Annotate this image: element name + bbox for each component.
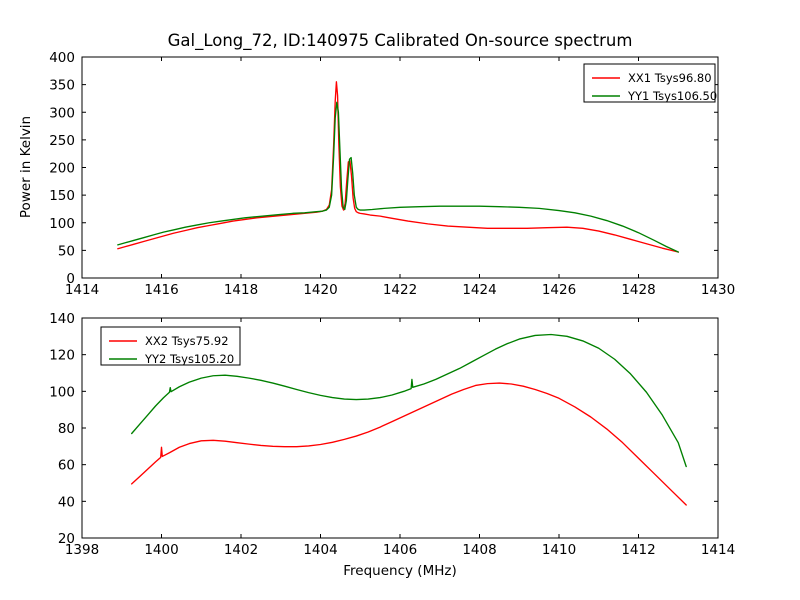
ytick-label-top: 50 xyxy=(58,243,75,259)
xtick-label-bottom: 1406 xyxy=(383,542,417,558)
xtick-label-top: 1416 xyxy=(144,282,178,298)
ytick-label-bottom: 100 xyxy=(49,384,75,400)
ytick-label-bottom: 120 xyxy=(49,348,75,364)
ytick-label-top: 300 xyxy=(49,105,75,121)
ytick-label-bottom: 60 xyxy=(58,458,75,474)
series-line-xx2 xyxy=(132,383,687,505)
legend-bottom-label: YY2 Tsys105.20 xyxy=(144,352,234,366)
xtick-label-bottom: 1410 xyxy=(542,542,576,558)
ytick-label-top: 150 xyxy=(49,188,75,204)
legend-top-label: YY1 Tsys106.50 xyxy=(627,89,717,103)
xtick-label-bottom: 1400 xyxy=(144,542,178,558)
ytick-label-bottom: 80 xyxy=(58,421,75,437)
ytick-label-top: 400 xyxy=(49,50,75,66)
legend-bottom-label: XX2 Tsys75.92 xyxy=(145,334,229,348)
xtick-label-bottom: 1412 xyxy=(621,542,655,558)
xtick-label-top: 1418 xyxy=(224,282,258,298)
legend-bottom[interactable]: XX2 Tsys75.92YY2 Tsys105.20 xyxy=(101,327,240,366)
ytick-label-top: 100 xyxy=(49,216,75,232)
legend-top-label: XX1 Tsys96.80 xyxy=(628,71,712,85)
page-title: Gal_Long_72, ID:140975 Calibrated On-sou… xyxy=(168,31,633,51)
figure-canvas: 1414141614181420142214241426142814300501… xyxy=(0,0,800,600)
xtick-label-top: 1428 xyxy=(621,282,655,298)
spectrum-figure: 1414141614181420142214241426142814300501… xyxy=(0,0,800,600)
xtick-label-top: 1426 xyxy=(542,282,576,298)
xtick-label-bottom: 1408 xyxy=(462,542,496,558)
ytick-label-bottom: 140 xyxy=(49,311,75,327)
xtick-label-top: 1420 xyxy=(303,282,337,298)
xtick-label-bottom: 1414 xyxy=(701,542,735,558)
xtick-label-bottom: 1404 xyxy=(303,542,337,558)
top-ylabel: Power in Kelvin xyxy=(18,116,34,218)
ytick-label-top: 200 xyxy=(49,161,75,177)
xtick-label-top: 1424 xyxy=(462,282,496,298)
ytick-label-top: 250 xyxy=(49,133,75,149)
xtick-label-top: 1430 xyxy=(701,282,735,298)
legend-top[interactable]: XX1 Tsys96.80YY1 Tsys106.50 xyxy=(584,64,717,103)
bottom-xlabel: Frequency (MHz) xyxy=(343,563,456,579)
ytick-label-bottom: 40 xyxy=(58,494,75,510)
series-line-xx1 xyxy=(118,82,678,252)
xtick-label-top: 1422 xyxy=(383,282,417,298)
ytick-label-top: 350 xyxy=(49,78,75,94)
ytick-label-top: 0 xyxy=(66,271,75,287)
xtick-label-bottom: 1402 xyxy=(224,542,258,558)
ytick-label-bottom: 20 xyxy=(58,531,75,547)
